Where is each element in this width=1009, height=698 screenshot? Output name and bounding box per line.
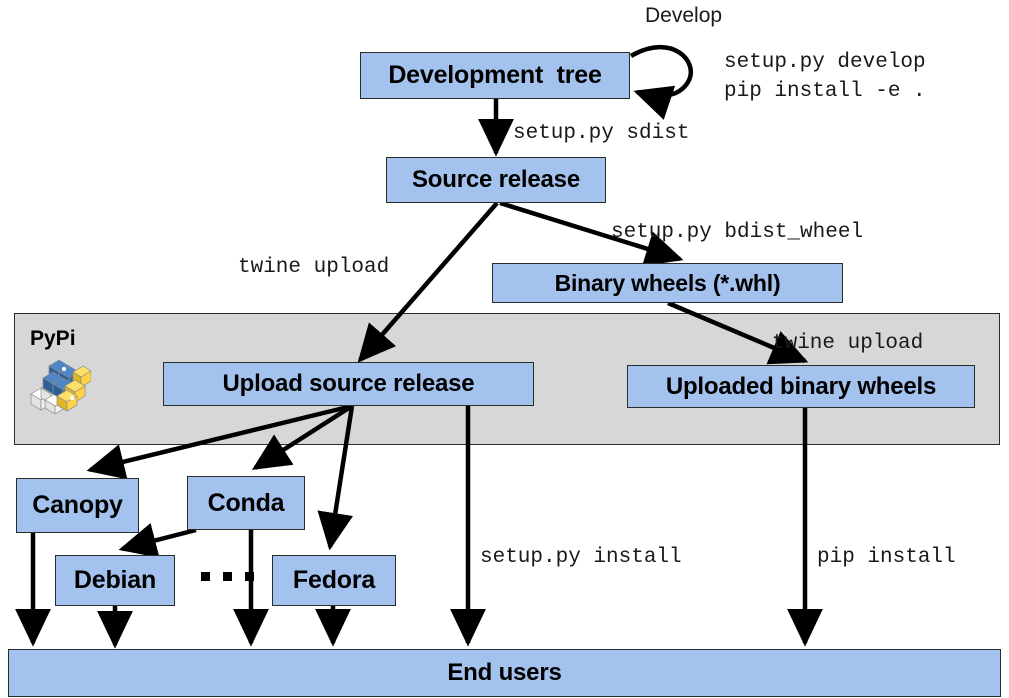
label-bdist-wheel-command: setup.py bdist_wheel <box>611 220 863 247</box>
node-conda[interactable]: Conda <box>187 476 305 530</box>
pypi-zone-label: PyPi <box>30 327 76 351</box>
label-twine-upload-wheels: twine upload <box>772 331 923 358</box>
python-blocks-logo-icon <box>27 356 91 419</box>
label-develop: Develop <box>645 4 722 28</box>
node-canopy[interactable]: Canopy <box>16 478 139 533</box>
node-end-users[interactable]: End users <box>8 649 1001 697</box>
label-twine-upload-source: twine upload <box>238 255 389 282</box>
node-source-release[interactable]: Source release <box>386 157 606 203</box>
label-develop-command-2: pip install -e . <box>724 79 926 106</box>
node-debian[interactable]: Debian <box>55 555 175 606</box>
ellipsis-dot <box>245 572 254 581</box>
label-pip-install-command: pip install <box>817 545 956 572</box>
ellipsis-dots <box>201 572 254 581</box>
ellipsis-dot <box>223 572 232 581</box>
label-develop-command-1: setup.py develop <box>724 50 926 77</box>
node-end-users-label: End users <box>9 659 1000 687</box>
node-uploaded-binary-wheels[interactable]: Uploaded binary wheels <box>627 365 975 408</box>
node-binary-wheels[interactable]: Binary wheels (*.whl) <box>492 263 843 303</box>
label-setup-install-command: setup.py install <box>480 545 682 572</box>
ellipsis-dot <box>201 572 210 581</box>
label-sdist-command: setup.py sdist <box>513 121 689 148</box>
node-fedora[interactable]: Fedora <box>272 555 396 606</box>
node-development-tree[interactable]: Development tree <box>360 52 630 99</box>
diagram-canvas: PyPi <box>0 0 1009 698</box>
node-upload-source-release[interactable]: Upload source release <box>163 362 534 406</box>
